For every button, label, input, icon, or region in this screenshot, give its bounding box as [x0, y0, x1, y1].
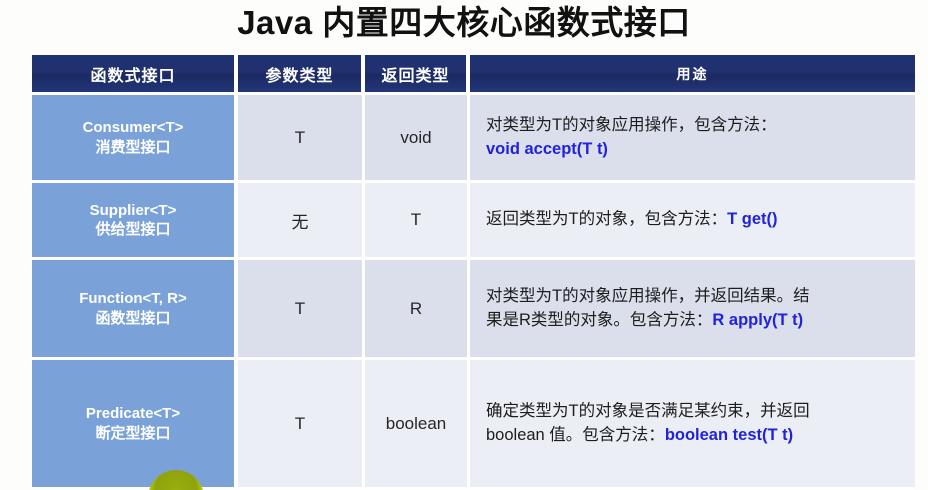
column-header-param-type: 参数类型 — [238, 55, 365, 95]
table-header-row: 函数式接口 参数类型 返回类型 用途 — [32, 55, 915, 95]
interface-name-cn: 消费型接口 — [95, 138, 170, 157]
table-row: Supplier<T> 供给型接口 无 T 返回类型为T的对象，包含方法：T g… — [32, 183, 915, 260]
interface-name-en: Consumer<T> — [83, 118, 184, 137]
purpose-text-line1: 对类型为T的对象应用操作，并返回结果。结 — [486, 285, 901, 309]
cell-return-type: R — [365, 260, 470, 360]
interface-name-cn: 供给型接口 — [95, 220, 170, 239]
column-header-return-type: 返回类型 — [365, 55, 470, 95]
cell-purpose: 返回类型为T的对象，包含方法：T get() — [470, 183, 915, 260]
cell-purpose: 对类型为T的对象应用操作，并返回结果。结 果是R类型的对象。包含方法：R app… — [470, 260, 915, 360]
cell-purpose: 确定类型为T的对象是否满足某约束，并返回 boolean 值。包含方法：bool… — [470, 360, 915, 490]
functional-interfaces-table: 函数式接口 参数类型 返回类型 用途 Consumer<T> 消费型接口 T v… — [32, 55, 915, 490]
purpose-text-line1: 对类型为T的对象应用操作，包含方法： — [486, 114, 901, 138]
method-signature: T get() — [727, 210, 777, 228]
interface-name-en: Supplier<T> — [90, 201, 177, 220]
table-row: Consumer<T> 消费型接口 T void 对类型为T的对象应用操作，包含… — [32, 95, 915, 183]
method-signature: boolean test(T t) — [665, 426, 793, 444]
interface-name-en: Predicate<T> — [86, 404, 180, 423]
cell-interface-consumer: Consumer<T> 消费型接口 — [32, 95, 238, 183]
cell-param-type: T — [238, 260, 365, 360]
table-row: Predicate<T> 断定型接口 T boolean 确定类型为T的对象是否… — [32, 360, 915, 490]
cell-interface-predicate: Predicate<T> 断定型接口 — [32, 360, 238, 490]
cell-param-type: T — [238, 95, 365, 183]
page-title: Java 内置四大核心函数式接口 — [0, 0, 928, 48]
slide-canvas: Java 内置四大核心函数式接口 函数式接口 参数类型 返回类型 用途 Cons… — [0, 0, 928, 490]
column-header-purpose: 用途 — [470, 55, 915, 95]
purpose-text-line1: 确定类型为T的对象是否满足某约束，并返回 — [486, 400, 901, 424]
interface-name-cn: 函数型接口 — [95, 309, 170, 328]
method-signature: void accept(T t) — [486, 138, 901, 162]
cell-return-type: void — [365, 95, 470, 183]
cell-return-type: boolean — [365, 360, 470, 490]
interface-name-cn: 断定型接口 — [95, 424, 170, 443]
method-signature: R apply(T t) — [712, 311, 803, 329]
interface-name-en: Function<T, R> — [79, 289, 187, 308]
cell-param-type: 无 — [238, 183, 365, 260]
table-row: Function<T, R> 函数型接口 T R 对类型为T的对象应用操作，并返… — [32, 260, 915, 360]
purpose-text-line2: 果是R类型的对象。包含方法： — [486, 311, 712, 329]
cell-interface-function: Function<T, R> 函数型接口 — [32, 260, 238, 360]
purpose-text-line1: 返回类型为T的对象，包含方法： — [486, 210, 727, 228]
cell-return-type: T — [365, 183, 470, 260]
cell-param-type: T — [238, 360, 365, 490]
column-header-interface: 函数式接口 — [32, 55, 238, 95]
purpose-text-line2: boolean 值。包含方法： — [486, 426, 665, 444]
cell-interface-supplier: Supplier<T> 供给型接口 — [32, 183, 238, 260]
cell-purpose: 对类型为T的对象应用操作，包含方法： void accept(T t) — [470, 95, 915, 183]
